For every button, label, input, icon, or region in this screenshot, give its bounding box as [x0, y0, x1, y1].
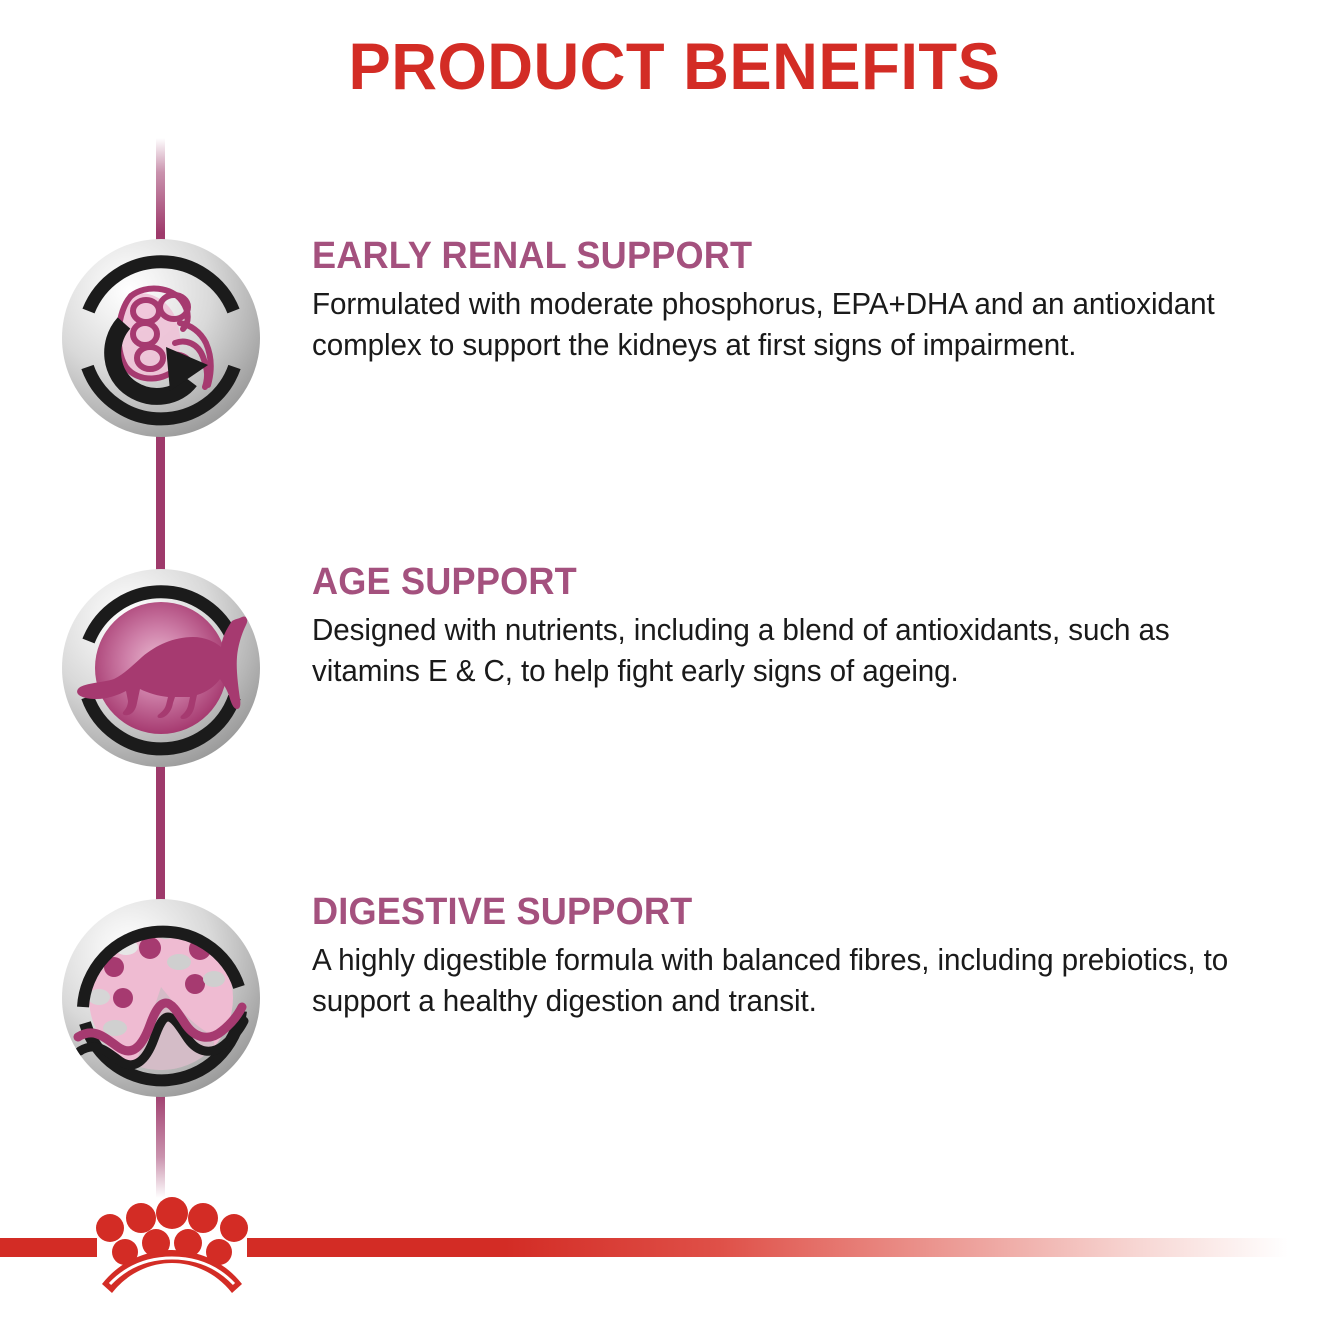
product-benefits-page: PRODUCT BENEFITS — [0, 0, 1320, 1320]
cat-silhouette-icon — [62, 569, 260, 767]
benefit-block-early-renal-support: EARLY RENAL SUPPORT Formulated with mode… — [312, 236, 1280, 365]
benefit-block-age-support: AGE SUPPORT Designed with nutrients, inc… — [312, 562, 1280, 691]
footer-rule-right — [247, 1238, 1320, 1257]
benefit-body: Designed with nutrients, including a ble… — [312, 610, 1236, 691]
footer-rule-left — [0, 1238, 97, 1257]
digestive-wave-icon — [62, 899, 260, 1097]
page-title: PRODUCT BENEFITS — [26, 28, 1293, 104]
benefit-heading: DIGESTIVE SUPPORT — [312, 892, 1232, 932]
royal-canin-crown-logo — [92, 1196, 252, 1300]
benefit-body: A highly digestible formula with balance… — [312, 940, 1236, 1021]
benefit-heading: AGE SUPPORT — [312, 562, 1232, 602]
benefit-heading: EARLY RENAL SUPPORT — [312, 236, 1232, 276]
timeline-connector-bottom — [156, 1090, 165, 1198]
benefit-body: Formulated with moderate phosphorus, EPA… — [312, 284, 1236, 365]
benefit-block-digestive-support: DIGESTIVE SUPPORT A highly digestible fo… — [312, 892, 1280, 1021]
kidney-cycle-icon — [62, 239, 260, 437]
